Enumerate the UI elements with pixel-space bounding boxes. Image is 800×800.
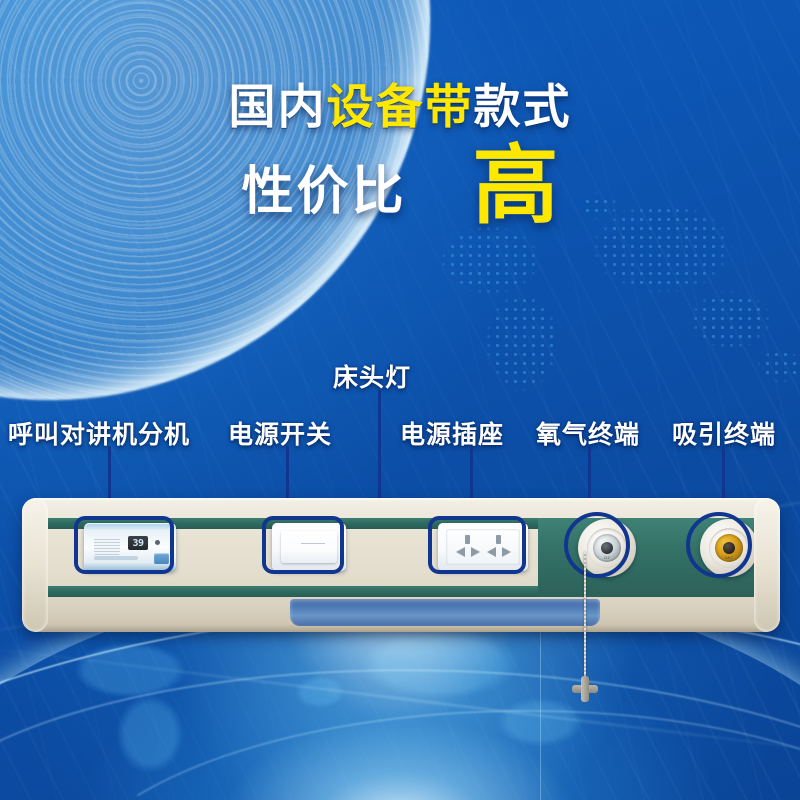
light-arc <box>57 702 800 800</box>
bed-head-lamp-cover[interactable] <box>290 599 600 626</box>
highlight-box-oxygen <box>564 512 630 578</box>
highlight-box-intercom <box>74 516 174 574</box>
headline-block: 国内设备带款式 <box>0 82 800 131</box>
world-map-silhouette <box>20 630 720 800</box>
pull-cord-line[interactable] <box>584 552 586 684</box>
highlight-box-power-switch <box>262 516 344 574</box>
product-banner: 国内设备带款式 性价比 高 呼叫对讲机分机 电源开关 床头灯 电源插座 氧气终端… <box>0 0 800 800</box>
grid-line <box>540 620 541 800</box>
callout-label-bed-lamp: 床头灯 <box>333 358 411 394</box>
headline-line1-part1: 国内 <box>229 80 327 133</box>
headline-line1-part2: 款式 <box>474 80 572 133</box>
light-arc <box>0 650 800 800</box>
cord-handle-bar-vertical <box>581 676 589 702</box>
callout-label-intercom: 呼叫对讲机分机 <box>8 415 190 451</box>
headline-line-2: 性价比 高 <box>0 146 800 228</box>
headline-line-1: 国内设备带款式 <box>0 82 800 131</box>
highlight-box-suction <box>686 512 752 578</box>
headline-emphasis-char: 高 <box>473 146 559 228</box>
headline-value-text: 性价比 <box>241 149 406 224</box>
pull-cord-handle[interactable] <box>572 676 598 702</box>
panel-endcap-left <box>22 498 48 632</box>
highlight-box-power-socket <box>428 516 526 574</box>
light-beam <box>0 644 800 758</box>
panel-endcap-right <box>754 498 780 632</box>
callout-label-power-socket: 电源插座 <box>400 415 504 451</box>
headline-line1-accent: 设备带 <box>327 80 474 133</box>
callout-label-power-switch: 电源开关 <box>228 415 332 451</box>
